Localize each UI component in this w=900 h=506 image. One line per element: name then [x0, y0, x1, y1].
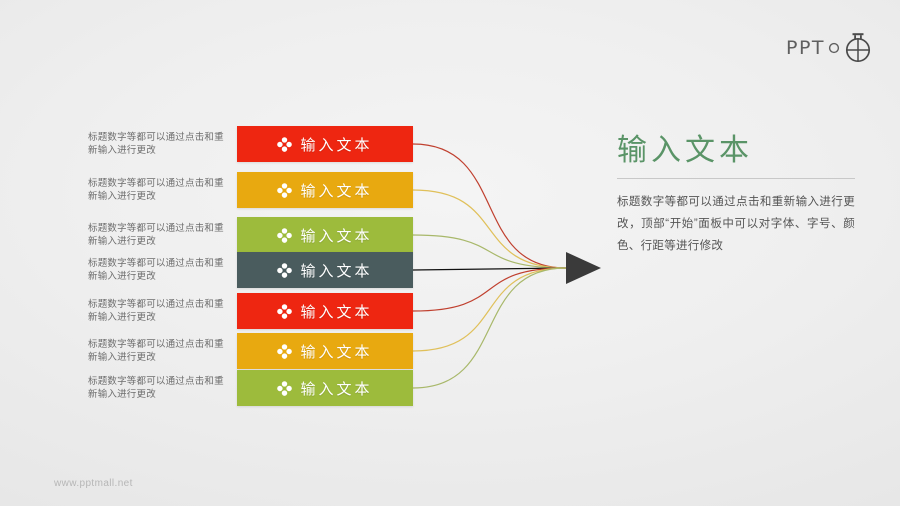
- row-bar-label: 输入文本: [300, 378, 372, 399]
- four-dot-diamond-icon: [277, 183, 292, 198]
- right-panel-body: 标题数字等都可以通过点击和重新输入进行更改，顶部“开始”面板中可以对字体、字号、…: [617, 191, 855, 257]
- right-panel-title: 输入文本: [617, 134, 855, 169]
- four-dot-diamond-icon: [277, 137, 292, 152]
- row-description-label: 标题数字等都可以通过点击和重新输入进行更改: [88, 298, 230, 324]
- four-dot-diamond-icon: [277, 344, 292, 359]
- slide-canvas: PPT 标题数字等都可以通过点击和重新输入进行更改输入文本标题数字等都可以通过点…: [0, 0, 900, 506]
- logo-wordmark: PPT: [786, 39, 825, 58]
- brand-logo: PPT: [786, 30, 878, 66]
- four-dot-diamond-icon: [277, 381, 292, 396]
- row-bar-label: 输入文本: [300, 341, 372, 362]
- logo-small-circle-icon: [828, 42, 840, 54]
- row-bar-label: 输入文本: [300, 260, 372, 281]
- row-bar[interactable]: 输入文本: [237, 333, 413, 369]
- process-row: 标题数字等都可以通过点击和重新输入进行更改输入文本: [0, 252, 900, 288]
- pptmall-circle-cross-icon: [843, 32, 873, 64]
- four-dot-diamond-icon: [277, 228, 292, 243]
- row-description-label: 标题数字等都可以通过点击和重新输入进行更改: [88, 375, 230, 401]
- four-dot-diamond-icon: [277, 263, 292, 278]
- footer-url: www.pptmall.net: [54, 478, 133, 489]
- row-description-label: 标题数字等都可以通过点击和重新输入进行更改: [88, 131, 230, 157]
- row-bar-label: 输入文本: [300, 134, 372, 155]
- row-bar-label: 输入文本: [300, 225, 372, 246]
- row-description-label: 标题数字等都可以通过点击和重新输入进行更改: [88, 257, 230, 283]
- row-bar[interactable]: 输入文本: [237, 217, 413, 253]
- row-bar[interactable]: 输入文本: [237, 126, 413, 162]
- row-bar[interactable]: 输入文本: [237, 252, 413, 288]
- title-divider: [617, 178, 855, 179]
- row-description-label: 标题数字等都可以通过点击和重新输入进行更改: [88, 222, 230, 248]
- row-bar-label: 输入文本: [300, 180, 372, 201]
- row-bar[interactable]: 输入文本: [237, 370, 413, 406]
- row-bar-label: 输入文本: [300, 301, 372, 322]
- row-description-label: 标题数字等都可以通过点击和重新输入进行更改: [88, 338, 230, 364]
- four-dot-diamond-icon: [277, 304, 292, 319]
- process-row: 标题数字等都可以通过点击和重新输入进行更改输入文本: [0, 293, 900, 329]
- row-bar[interactable]: 输入文本: [237, 293, 413, 329]
- right-content-panel: 输入文本 标题数字等都可以通过点击和重新输入进行更改，顶部“开始”面板中可以对字…: [617, 134, 855, 257]
- process-row: 标题数字等都可以通过点击和重新输入进行更改输入文本: [0, 370, 900, 406]
- row-bar[interactable]: 输入文本: [237, 172, 413, 208]
- process-row: 标题数字等都可以通过点击和重新输入进行更改输入文本: [0, 333, 900, 369]
- row-description-label: 标题数字等都可以通过点击和重新输入进行更改: [88, 177, 230, 203]
